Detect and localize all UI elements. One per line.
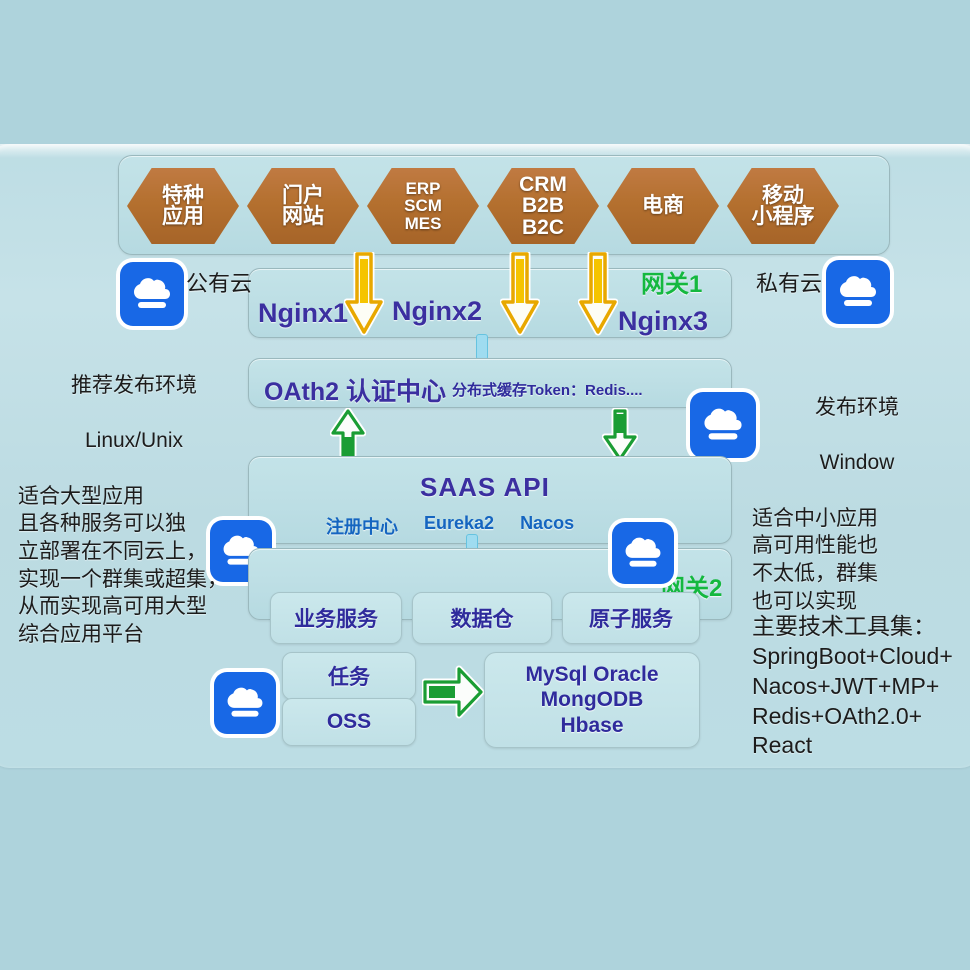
database-line-2: Hbase [560, 713, 623, 739]
arrow-down-yellow-icon-1 [344, 252, 384, 336]
arrow-down-yellow-icon-3 [578, 252, 618, 336]
left-note-body: 适合大型应用 且各种服务可以独 立部署在不同云上， 实现一个群集或超集， 从而实… [18, 485, 228, 647]
gateway1-tag: 网关1 [641, 264, 702, 299]
app-hex-0[interactable]: 特种 应用 [127, 168, 239, 244]
app-hex-2-line-2: MES [404, 215, 442, 232]
app-hex-3[interactable]: CRM B2B B2C [487, 168, 599, 244]
public-cloud-label: 公有云 [186, 266, 252, 298]
app-hex-4-line-0: 电商 [642, 195, 684, 216]
arrow-down-yellow-icon-2 [500, 252, 540, 336]
database-line-0: MySql Oracle [525, 662, 658, 688]
right-note: 发布环境 Window 适合中小应用 高可用性能也 不太低，群集 也可以实现 [752, 366, 962, 615]
app-hex-5-line-1: 小程序 [752, 206, 815, 227]
arrow-down-green-icon [602, 408, 638, 462]
cloud-icon-public [120, 262, 184, 326]
app-hex-2[interactable]: ERP SCM MES [367, 168, 479, 244]
cloud-icon-private [826, 260, 890, 324]
tech-stack-heading: 主要技术工具集： [752, 613, 936, 639]
private-cloud-label: 私有云 [756, 266, 822, 298]
nginx1-label: Nginx1 [258, 298, 348, 329]
service-box-datawarehouse[interactable]: 数据仓 [412, 592, 552, 644]
app-hex-3-line-1: B2B [519, 195, 567, 216]
service-box-business[interactable]: 业务服务 [270, 592, 402, 644]
cloud-icon-gateway2 [612, 522, 674, 584]
token-cache-label: 分布式缓存Token：Redis.... [452, 379, 643, 400]
oauth2-title: OAth2 认证中心 [264, 372, 446, 408]
arrow-right-green-icon [422, 664, 484, 720]
left-note-heading: 推荐发布环境 [18, 372, 250, 400]
app-hex-4[interactable]: 电商 [607, 168, 719, 244]
task-box[interactable]: 任务 [282, 652, 416, 700]
nginx3-label: Nginx3 [618, 306, 708, 337]
saas-api-title: SAAS API [420, 472, 550, 503]
app-hex-1[interactable]: 门户 网站 [247, 168, 359, 244]
left-note: 推荐发布环境 Linux/Unix 适合大型应用 且各种服务可以独 立部署在不同… [18, 344, 250, 649]
connector-gateway-auth [476, 334, 488, 360]
tech-stack-note: 主要技术工具集： SpringBoot+Cloud+ Nacos+JWT+MP+… [752, 582, 968, 761]
database-box[interactable]: MySql Oracle MongODB Hbase [484, 652, 700, 748]
app-hex-1-line-1: 网站 [282, 206, 324, 227]
registry-eureka: Eureka2 [424, 513, 494, 539]
app-hex-2-line-1: SCM [404, 197, 442, 214]
registry-nacos: Nacos [520, 513, 574, 539]
cloud-icon-storage [214, 672, 276, 734]
app-hex-0-line-0: 特种 [162, 185, 204, 206]
right-note-heading: 发布环境 [752, 394, 962, 422]
service-box-atomic[interactable]: 原子服务 [562, 592, 700, 644]
app-hex-3-line-0: CRM [519, 174, 567, 195]
app-hex-5-line-0: 移动 [752, 185, 815, 206]
right-note-platform: Window [752, 449, 962, 477]
database-line-1: MongODB [541, 687, 644, 713]
app-hex-3-line-2: B2C [519, 217, 567, 238]
app-hex-2-line-0: ERP [404, 180, 442, 197]
application-layer-panel: 特种 应用 门户 网站 ERP SCM MES CRM B2B B2C 电商 移… [118, 155, 890, 255]
app-hex-5[interactable]: 移动 小程序 [727, 168, 839, 244]
arrow-up-green-icon [330, 408, 366, 462]
tech-stack-body: SpringBoot+Cloud+ Nacos+JWT+MP+ Redis+OA… [752, 643, 953, 759]
app-hex-1-line-0: 门户 [282, 185, 324, 206]
left-note-platform: Linux/Unix [18, 427, 250, 455]
app-hex-0-line-1: 应用 [162, 206, 204, 227]
nginx2-label: Nginx2 [392, 296, 482, 327]
oss-box[interactable]: OSS [282, 698, 416, 746]
cloud-icon-auth [690, 392, 756, 458]
registry-label: 注册中心 [326, 513, 398, 539]
